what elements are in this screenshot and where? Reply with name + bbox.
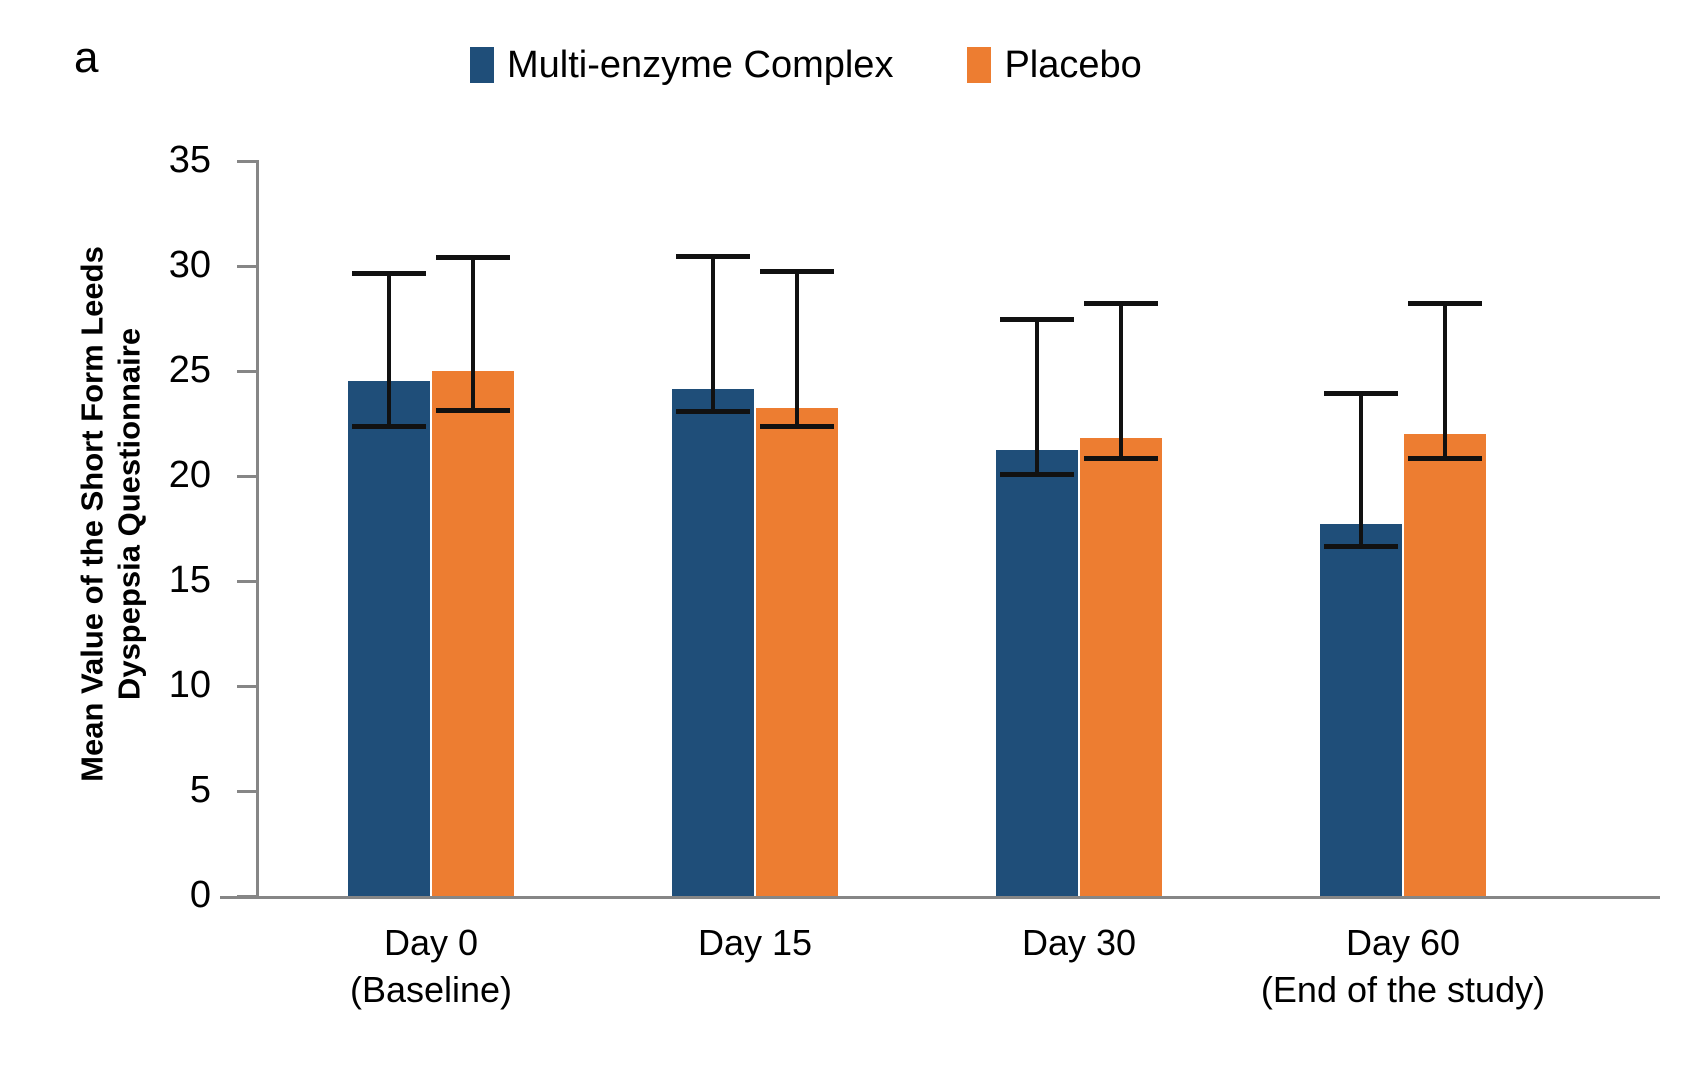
bar-placebo-day-0[interactable] — [432, 371, 514, 896]
y-tick-label-25: 25 — [169, 351, 211, 389]
y-tick-label-35: 35 — [169, 141, 211, 179]
bar-multi-enzyme-complex-day-30[interactable] — [996, 450, 1078, 896]
chart-legend: Multi-enzyme Complex Placebo — [470, 46, 1142, 84]
x-axis-label-day-15: Day 15 — [698, 920, 812, 967]
legend-entry-multi-enzyme-complex: Multi-enzyme Complex — [470, 46, 893, 84]
y-axis-title-line-1: Mean Value of the Short Form Leeds — [74, 128, 111, 900]
bar-group-day-0 — [348, 158, 514, 896]
y-axis-title-line-2: Dyspepsia Questionnaire — [111, 128, 148, 900]
y-tick-15: 15 — [237, 580, 256, 583]
chart-figure: a Multi-enzyme Complex Placebo Mean Valu… — [0, 0, 1700, 1069]
x-axis-label-day-0-line-2: (Baseline) — [350, 967, 512, 1014]
legend-label-multi-enzyme-complex: Multi-enzyme Complex — [507, 46, 893, 84]
x-axis-label-day-60-line-2: (End of the study) — [1261, 967, 1545, 1014]
bar-group-day-30 — [996, 158, 1162, 896]
y-tick-10: 10 — [237, 685, 256, 688]
x-axis-label-day-60-line-1: Day 60 — [1261, 920, 1545, 967]
x-axis-label-day-60: Day 60 (End of the study) — [1261, 920, 1545, 1014]
x-axis-label-day-0-line-1: Day 0 — [350, 920, 512, 967]
y-axis-line — [256, 160, 259, 898]
panel-label: a — [74, 36, 98, 80]
y-tick-label-5: 5 — [190, 771, 211, 809]
y-tick-label-10: 10 — [169, 666, 211, 704]
y-tick-20: 20 — [237, 475, 256, 478]
y-tick-label-30: 30 — [169, 246, 211, 284]
y-tick-label-0: 0 — [190, 876, 211, 914]
x-axis-label-day-30-line-1: Day 30 — [1022, 920, 1136, 967]
x-axis-label-day-30: Day 30 — [1022, 920, 1136, 967]
x-axis-label-day-0: Day 0 (Baseline) — [350, 920, 512, 1014]
blue-square-swatch — [470, 47, 494, 83]
bar-placebo-day-30[interactable] — [1080, 438, 1162, 896]
y-axis-title: Mean Value of the Short Form Leeds Dyspe… — [56, 128, 166, 900]
bar-placebo-day-15[interactable] — [756, 408, 838, 896]
y-tick-label-15: 15 — [169, 561, 211, 599]
plot-area: 0 5 10 15 20 25 30 35 — [256, 160, 1660, 898]
y-tick-35: 35 — [237, 160, 256, 163]
y-tick-25: 25 — [237, 370, 256, 373]
x-axis-label-day-15-line-1: Day 15 — [698, 920, 812, 967]
legend-label-placebo: Placebo — [1004, 46, 1141, 84]
orange-square-swatch — [967, 47, 991, 83]
x-axis-line — [220, 896, 1660, 899]
bar-placebo-day-60[interactable] — [1404, 434, 1486, 896]
legend-entry-placebo: Placebo — [967, 46, 1141, 84]
y-tick-0: 0 — [237, 895, 256, 898]
y-tick-label-20: 20 — [169, 456, 211, 494]
bar-multi-enzyme-complex-day-15[interactable] — [672, 389, 754, 896]
bar-multi-enzyme-complex-day-60[interactable] — [1320, 524, 1402, 896]
bar-group-day-15 — [672, 158, 838, 896]
y-tick-5: 5 — [237, 790, 256, 793]
bar-multi-enzyme-complex-day-0[interactable] — [348, 381, 430, 896]
bar-group-day-60 — [1320, 158, 1486, 896]
y-tick-30: 30 — [237, 265, 256, 268]
